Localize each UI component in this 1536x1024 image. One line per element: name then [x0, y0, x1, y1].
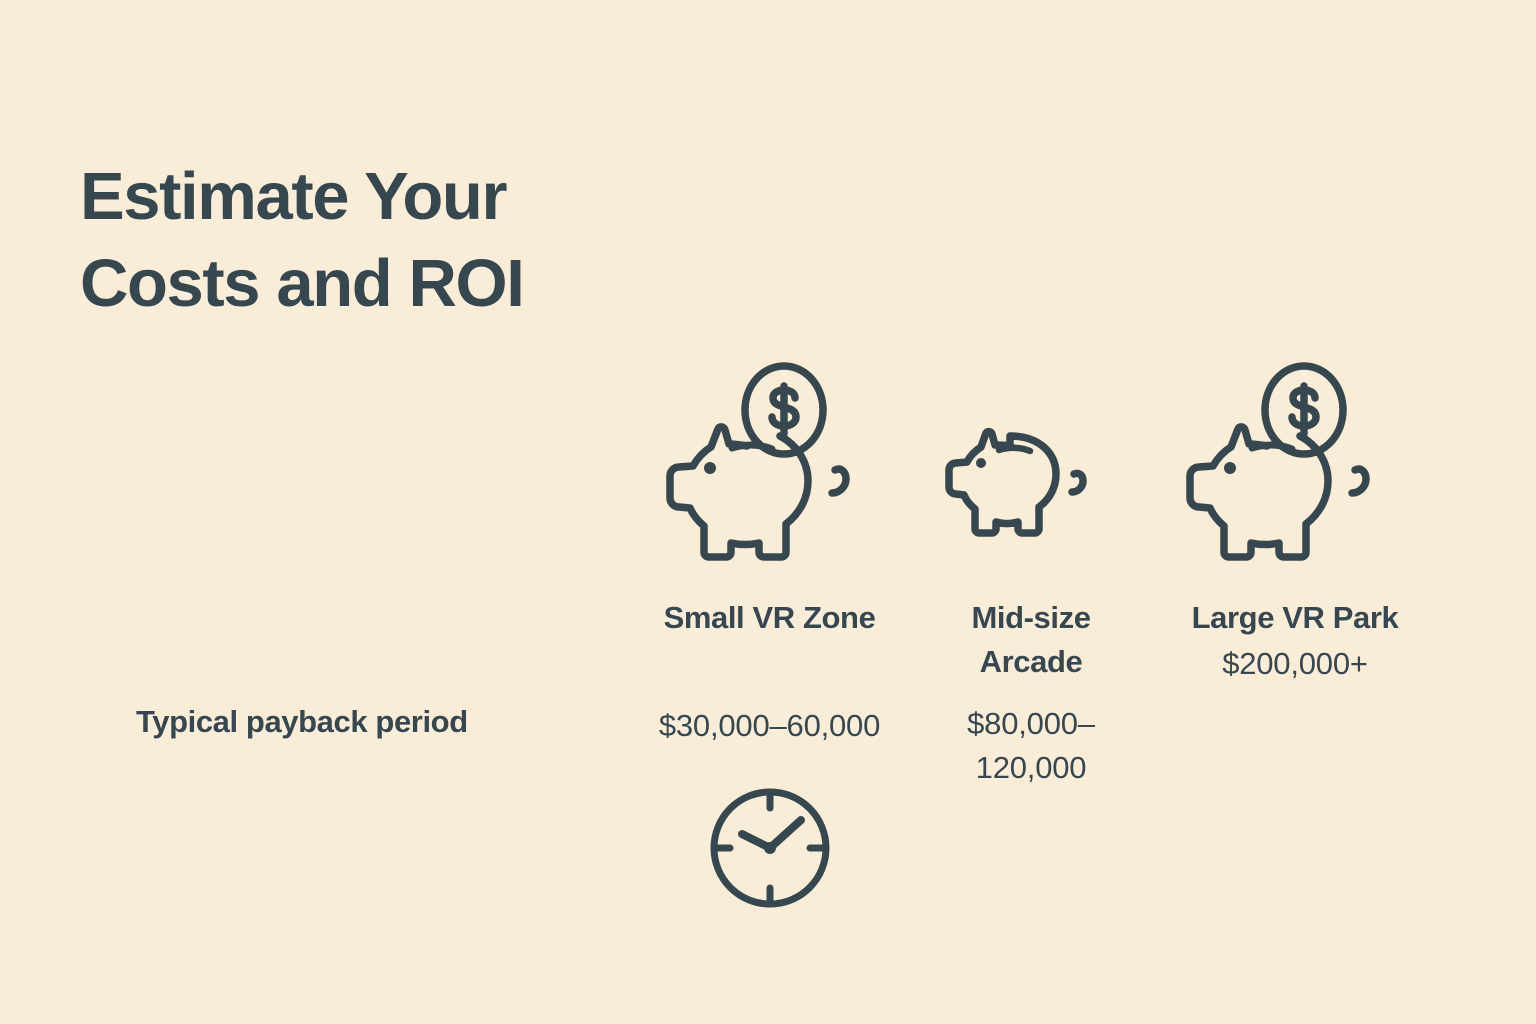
tier-label: Small VR Zone: [612, 596, 927, 640]
tier-column-mid-size-arcade: Mid-size Arcade $80,000–120,000: [938, 596, 1124, 790]
page-title: Estimate Your Costs and ROI: [80, 153, 780, 327]
piggy-bank-icon: [944, 432, 1110, 578]
tier-price: $30,000–60,000: [612, 704, 927, 748]
tier-price: $80,000–120,000: [938, 702, 1124, 790]
tier-label: Mid-size Arcade: [938, 596, 1124, 684]
tier-column-large-vr-park: Large VR Park $200,000+: [1150, 596, 1440, 686]
piggy-bank-with-coin-icon: [662, 362, 876, 576]
clock-icon: [706, 784, 834, 912]
payback-period-label: Typical payback period: [136, 700, 468, 744]
tier-column-small-vr-zone: Small VR Zone $30,000–60,000: [612, 596, 927, 748]
tier-price: $200,000+: [1150, 642, 1440, 686]
infographic-canvas: Estimate Your Costs and ROI: [0, 0, 1536, 1024]
tier-label: Large VR Park: [1150, 596, 1440, 640]
piggy-bank-with-coin-icon: [1182, 362, 1396, 576]
